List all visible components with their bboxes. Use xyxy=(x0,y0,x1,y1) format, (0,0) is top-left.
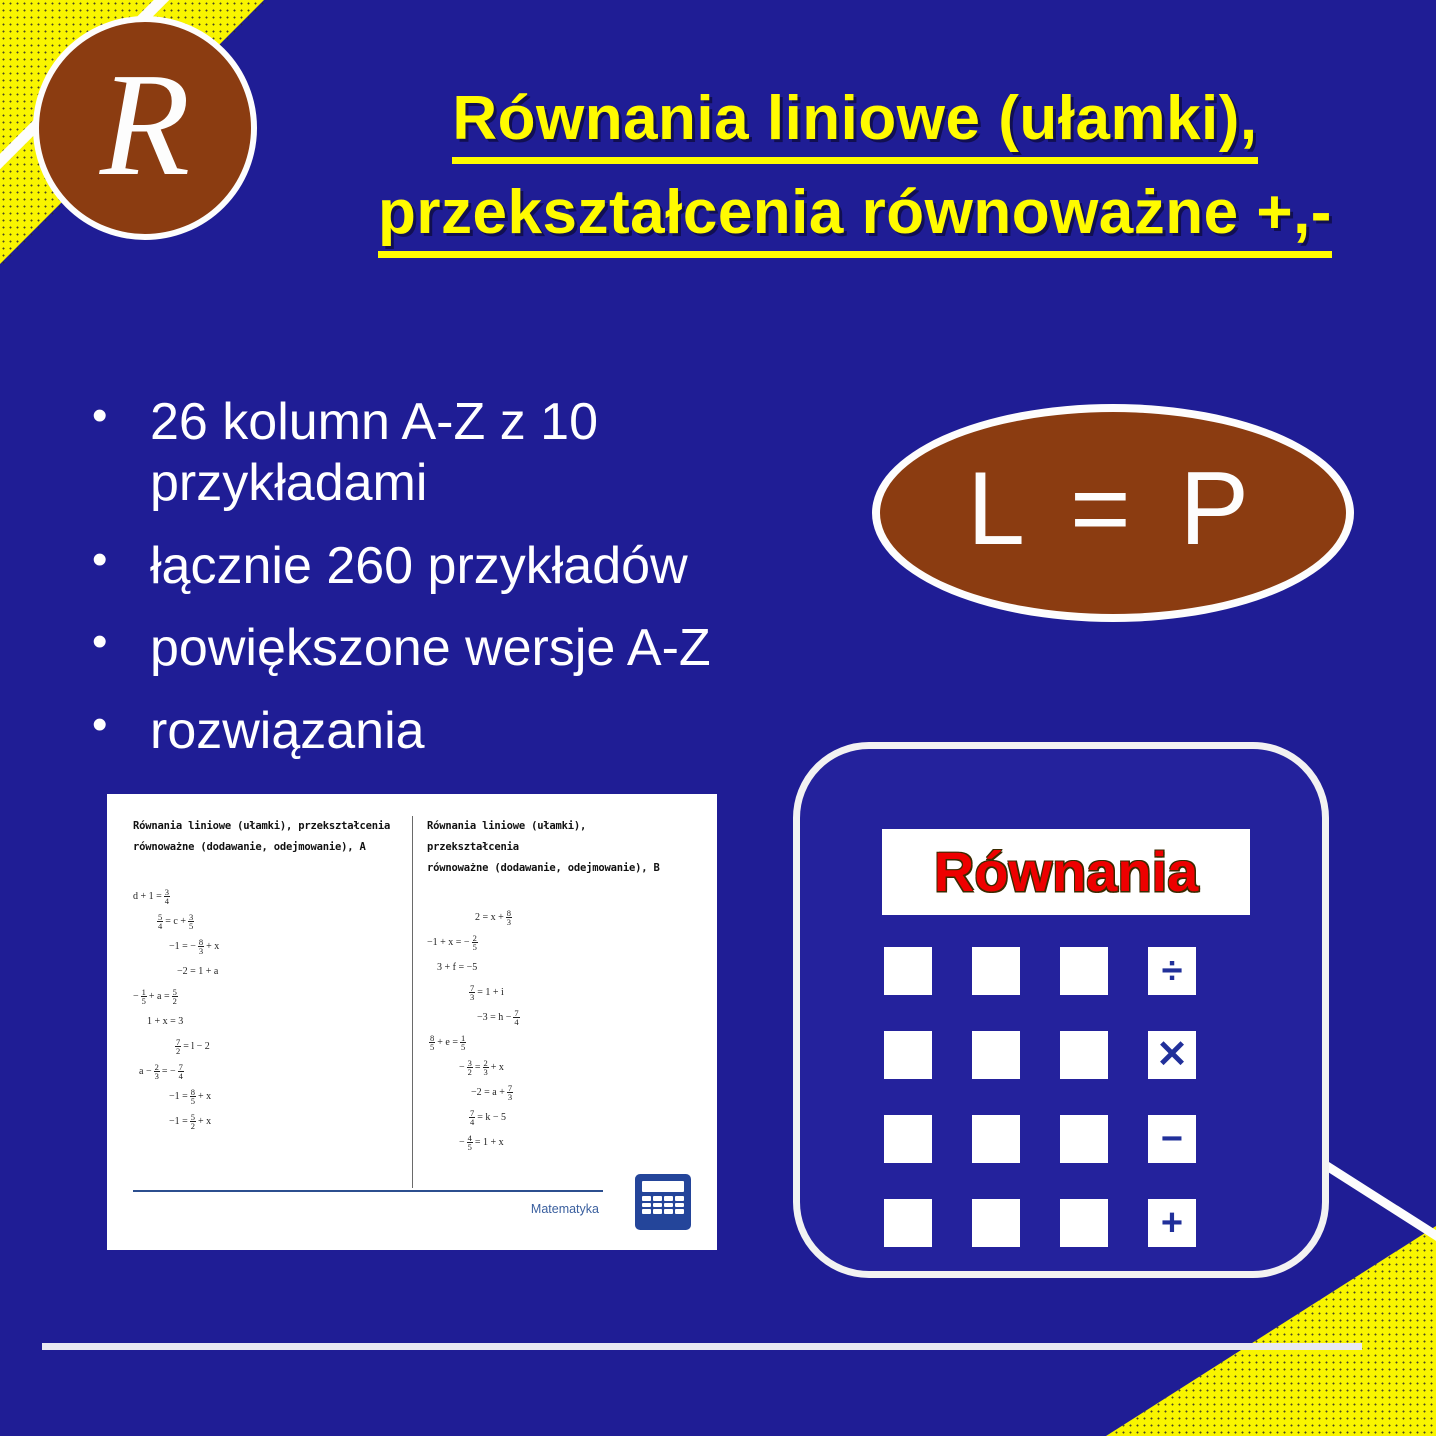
worksheet-equation: −2 = 1 + a xyxy=(133,959,404,984)
fraction: 52 xyxy=(172,988,178,1006)
calculator-key-blank[interactable] xyxy=(1060,947,1108,995)
calculator-key-blank[interactable] xyxy=(972,1031,1020,1079)
fraction: 85 xyxy=(429,1034,435,1052)
logo-letter: R xyxy=(100,51,190,199)
worksheet-equations-b: 2 = x + 83−1 + x = −253 + f = −573 = 1 +… xyxy=(427,905,683,1155)
worksheet-footer-rule xyxy=(133,1190,603,1192)
equation-text: a − xyxy=(139,1066,152,1077)
equation-text: − xyxy=(459,1137,465,1148)
fraction: 15 xyxy=(460,1034,466,1052)
worksheet-equation: −3 = h − 74 xyxy=(427,1005,683,1030)
equation-text: −1 = xyxy=(169,1091,188,1102)
calculator-key-multiply[interactable]: ✕ xyxy=(1148,1031,1196,1079)
worksheet-equation: a − 23 = −74 xyxy=(133,1059,404,1084)
worksheet-heading-b-line2: równoważne (dodawanie, odejmowanie), B xyxy=(427,858,683,879)
equation-text: −1 = − xyxy=(169,941,196,952)
calculator-key-blank[interactable] xyxy=(972,1115,1020,1163)
equation-balance-badge: L = P xyxy=(872,404,1354,622)
fraction: 25 xyxy=(472,934,478,952)
fraction: 74 xyxy=(513,1009,519,1027)
calculator-key-blank[interactable] xyxy=(1060,1115,1108,1163)
worksheet-equations-a: d + 1 = 3454 = c + 35−1 = −83 + x−2 = 1 … xyxy=(133,884,404,1134)
fraction: 34 xyxy=(164,888,170,906)
list-item: rozwiązania xyxy=(78,701,868,762)
worksheet-equation: 2 = x + 83 xyxy=(427,905,683,930)
calculator-key-blank[interactable] xyxy=(884,947,932,995)
title-line-1: Równania liniowe (ułamki), xyxy=(300,72,1410,166)
worksheet-equation: 85 + e = 15 xyxy=(427,1030,683,1055)
worksheet-subject-label: Matematyka xyxy=(531,1202,599,1216)
worksheet-equation: 72 = l − 2 xyxy=(133,1034,404,1059)
equation-text: −1 + x = − xyxy=(427,937,470,948)
list-item: łącznie 260 przykładów xyxy=(78,536,868,597)
worksheet-equation: −1 = −83 + x xyxy=(133,934,404,959)
equation-text: = l − 2 xyxy=(183,1041,210,1052)
calculator-key-divide[interactable]: ÷ xyxy=(1148,947,1196,995)
equation-text: + e = xyxy=(437,1037,458,1048)
calculator-key-blank[interactable] xyxy=(1060,1031,1108,1079)
worksheet-equation: 73 = 1 + i xyxy=(427,980,683,1005)
fraction: 73 xyxy=(507,1084,513,1102)
fraction: 83 xyxy=(506,909,512,927)
worksheet-equation: −1 = 85 + x xyxy=(133,1084,404,1109)
equation-text: + x xyxy=(491,1062,504,1073)
logo-badge: R xyxy=(33,16,257,240)
fraction: 52 xyxy=(190,1113,196,1131)
calculator-icon-keys xyxy=(642,1196,684,1214)
fraction: 35 xyxy=(188,913,194,931)
worksheet-equation: 54 = c + 35 xyxy=(133,909,404,934)
worksheet-column-a: Równania liniowe (ułamki), przekształcen… xyxy=(133,816,412,1188)
worksheet-column-b: Równania liniowe (ułamki), przekształcen… xyxy=(412,816,691,1188)
equation-text: − xyxy=(133,991,139,1002)
poster-canvas: R Równania liniowe (ułamki), przekształc… xyxy=(0,0,1436,1436)
equation-text: −2 = 1 + a xyxy=(177,966,218,977)
list-item: powiększone wersje A-Z xyxy=(78,618,868,679)
calculator-key-blank[interactable] xyxy=(972,1199,1020,1247)
calculator-key-blank[interactable] xyxy=(1060,1199,1108,1247)
worksheet-equation: 74 = k − 5 xyxy=(427,1105,683,1130)
equation-text: d + 1 = xyxy=(133,891,162,902)
calculator-key-blank[interactable] xyxy=(884,1199,932,1247)
equation-text: − xyxy=(459,1062,465,1073)
fraction: 72 xyxy=(175,1038,181,1056)
calculator-icon-screen xyxy=(642,1181,684,1192)
worksheet-equation: −1 = 52 + x xyxy=(133,1109,404,1134)
equation-text: + x xyxy=(198,1116,211,1127)
worksheet-preview: Równania liniowe (ułamki), przekształcen… xyxy=(107,794,717,1250)
worksheet-equation: −32 = 23 + x xyxy=(427,1055,683,1080)
fraction: 23 xyxy=(483,1059,489,1077)
fraction: 74 xyxy=(178,1063,184,1081)
equation-text: −3 = h − xyxy=(477,1012,511,1023)
worksheet-heading-a-line2: równoważne (dodawanie, odejmowanie), A xyxy=(133,837,404,858)
worksheet-equation: 3 + f = −5 xyxy=(427,955,683,980)
equation-text: = − xyxy=(162,1066,176,1077)
equation-text: + a = xyxy=(149,991,170,1002)
calculator-graphic: Równania ÷✕−+ xyxy=(793,742,1329,1278)
equation-text: −1 = xyxy=(169,1116,188,1127)
worksheet-equation: −15 + a = 52 xyxy=(133,984,404,1009)
equation-text: 2 = x + xyxy=(475,912,504,923)
fraction: 85 xyxy=(190,1088,196,1106)
worksheet-equation: 1 + x = 3 xyxy=(133,1009,404,1034)
fraction: 23 xyxy=(154,1063,160,1081)
equation-text: −2 = a + xyxy=(471,1087,505,1098)
equation-text: + x xyxy=(198,1091,211,1102)
calculator-display: Równania xyxy=(882,829,1250,915)
title-line-1-text: Równania liniowe (ułamki), xyxy=(452,84,1257,164)
feature-bullet-list: 26 kolumn A-Z z 10 przykładami łącznie 2… xyxy=(78,392,868,784)
fraction: 45 xyxy=(467,1134,473,1152)
title-line-2-text: przekształcenia równoważne +,- xyxy=(378,178,1332,258)
equation-text: = k − 5 xyxy=(477,1112,506,1123)
equation-text: = 1 + x xyxy=(475,1137,504,1148)
fraction: 32 xyxy=(467,1059,473,1077)
worksheet-columns: Równania liniowe (ułamki), przekształcen… xyxy=(133,816,691,1188)
calculator-key-blank[interactable] xyxy=(972,947,1020,995)
worksheet-footer: Matematyka xyxy=(133,1174,691,1236)
calculator-display-text: Równania xyxy=(934,844,1198,900)
calculator-key-minus[interactable]: − xyxy=(1148,1115,1196,1163)
title-line-2: przekształcenia równoważne +,- xyxy=(300,166,1410,260)
fraction: 54 xyxy=(157,913,163,931)
worksheet-heading-b-line1: Równania liniowe (ułamki), przekształcen… xyxy=(427,816,683,858)
equation-text: = c + xyxy=(165,916,186,927)
calculator-key-blank[interactable] xyxy=(884,1031,932,1079)
equation-text: 1 + x = 3 xyxy=(147,1016,183,1027)
fraction: 73 xyxy=(469,984,475,1002)
worksheet-equation: −2 = a + 73 xyxy=(427,1080,683,1105)
bottom-divider xyxy=(42,1343,1362,1350)
worksheet-equation: −45 = 1 + x xyxy=(427,1130,683,1155)
worksheet-heading-a-line1: Równania liniowe (ułamki), przekształcen… xyxy=(133,816,404,837)
calculator-keypad: ÷✕−+ xyxy=(884,947,1256,1247)
list-item: 26 kolumn A-Z z 10 przykładami xyxy=(78,392,868,514)
equation-text: = 1 + i xyxy=(477,987,504,998)
equation-text: = xyxy=(475,1062,481,1073)
calculator-key-plus[interactable]: + xyxy=(1148,1199,1196,1247)
equation-text: + x xyxy=(206,941,219,952)
fraction: 15 xyxy=(141,988,147,1006)
equation-text: 3 + f = −5 xyxy=(437,962,477,973)
worksheet-equation: −1 + x = −25 xyxy=(427,930,683,955)
fraction: 83 xyxy=(198,938,204,956)
calculator-key-blank[interactable] xyxy=(884,1115,932,1163)
page-title: Równania liniowe (ułamki), przekształcen… xyxy=(300,72,1410,260)
fraction: 74 xyxy=(469,1109,475,1127)
calculator-icon xyxy=(635,1174,691,1230)
worksheet-equation: d + 1 = 34 xyxy=(133,884,404,909)
equation-balance-text: L = P xyxy=(967,457,1259,561)
